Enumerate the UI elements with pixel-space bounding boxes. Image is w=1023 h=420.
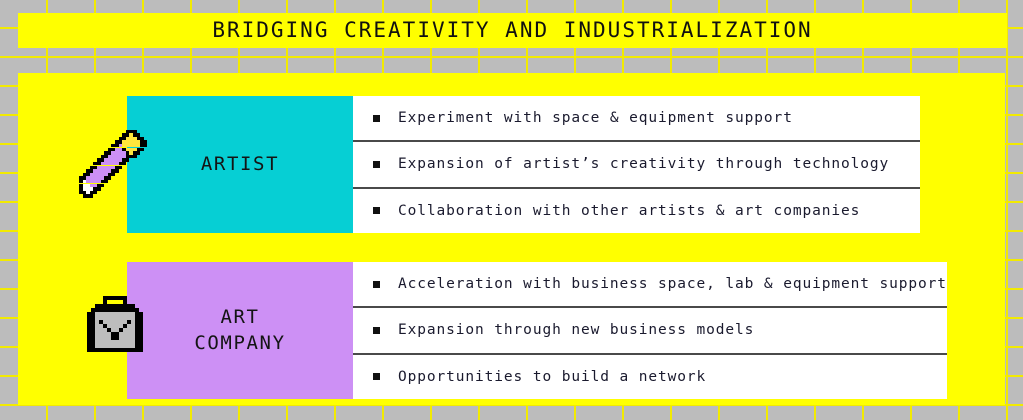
title-banner: BRIDGING CREATIVITY AND INDUSTRIALIZATIO…	[18, 13, 1007, 48]
list-item-label: Experiment with space & equipment suppor…	[398, 110, 793, 126]
slide-canvas: BRIDGING CREATIVITY AND INDUSTRIALIZATIO…	[0, 0, 1023, 420]
list-item-label: Opportunities to build a network	[398, 369, 706, 385]
row-artist: ARTIST Experiment with space & equipment…	[127, 96, 920, 233]
bullet-square-icon	[373, 161, 380, 168]
row-label-artist-text: ARTIST	[201, 152, 279, 178]
list-item: Acceleration with business space, lab & …	[353, 262, 947, 308]
list-item: Expansion of artist’s creativity through…	[353, 142, 920, 188]
briefcase-icon	[79, 296, 149, 366]
bullet-list-art-company: Acceleration with business space, lab & …	[353, 262, 947, 399]
row-label-art-company-text: ART COMPANY	[194, 305, 285, 356]
list-item-label: Acceleration with business space, lab & …	[398, 276, 947, 292]
list-item: Experiment with space & equipment suppor…	[353, 96, 920, 142]
list-item-label: Expansion through new business models	[398, 322, 754, 338]
pencil-icon	[79, 130, 149, 200]
list-item-label: Collaboration with other artists & art c…	[398, 203, 860, 219]
bullet-list-artist: Experiment with space & equipment suppor…	[353, 96, 920, 233]
bullet-square-icon	[373, 281, 380, 288]
list-item: Expansion through new business models	[353, 308, 947, 354]
bullet-square-icon	[373, 207, 380, 214]
main-content-panel: ARTIST Experiment with space & equipment…	[18, 73, 1005, 405]
bullet-square-icon	[373, 115, 380, 122]
row-label-artist: ARTIST	[127, 96, 353, 233]
row-art-company: ART COMPANY Acceleration with business s…	[127, 262, 920, 399]
bullet-square-icon	[373, 327, 380, 334]
bullet-square-icon	[373, 373, 380, 380]
row-label-art-company: ART COMPANY	[127, 262, 353, 399]
list-item: Opportunities to build a network	[353, 355, 947, 399]
list-item: Collaboration with other artists & art c…	[353, 189, 920, 233]
page-title: BRIDGING CREATIVITY AND INDUSTRIALIZATIO…	[212, 20, 812, 41]
list-item-label: Expansion of artist’s creativity through…	[398, 156, 889, 172]
